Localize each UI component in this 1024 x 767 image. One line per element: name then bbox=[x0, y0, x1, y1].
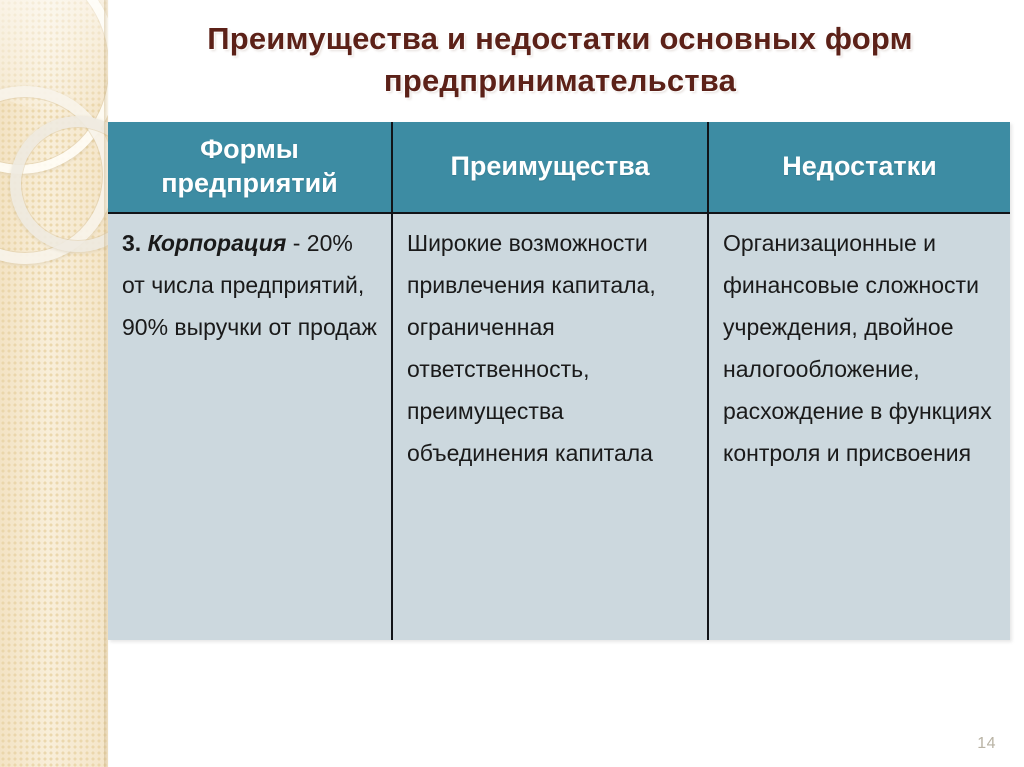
page-number: 14 bbox=[977, 735, 996, 753]
table-header: Формы предприятий Преимущества Недостатк… bbox=[108, 122, 1010, 213]
comparison-table-container: Формы предприятий Преимущества Недостатк… bbox=[108, 122, 1010, 640]
cell-disadvantages: Организационные и финансовые сложности у… bbox=[708, 213, 1010, 640]
column-header-disadvantages: Недостатки bbox=[708, 122, 1010, 213]
column-header-forms: Формы предприятий bbox=[108, 122, 392, 213]
slide-title: Преимущества и недостатки основных форм … bbox=[112, 18, 1008, 102]
column-header-advantages: Преимущества bbox=[392, 122, 708, 213]
table-header-row: Формы предприятий Преимущества Недостатк… bbox=[108, 122, 1010, 213]
cell-form-type: 3. Корпорация - 20% от числа предприятий… bbox=[108, 213, 392, 640]
table-row: 3. Корпорация - 20% от числа предприятий… bbox=[108, 213, 1010, 640]
cell-advantages: Широкие возможности привлечения капитала… bbox=[392, 213, 708, 640]
slide-canvas: Преимущества и недостатки основных форм … bbox=[0, 0, 1024, 767]
table-body: 3. Корпорация - 20% от числа предприятий… bbox=[108, 213, 1010, 640]
form-term: Корпорация bbox=[148, 230, 287, 256]
form-number: 3. bbox=[122, 230, 141, 256]
decorative-left-band bbox=[0, 0, 108, 767]
comparison-table: Формы предприятий Преимущества Недостатк… bbox=[108, 122, 1010, 640]
